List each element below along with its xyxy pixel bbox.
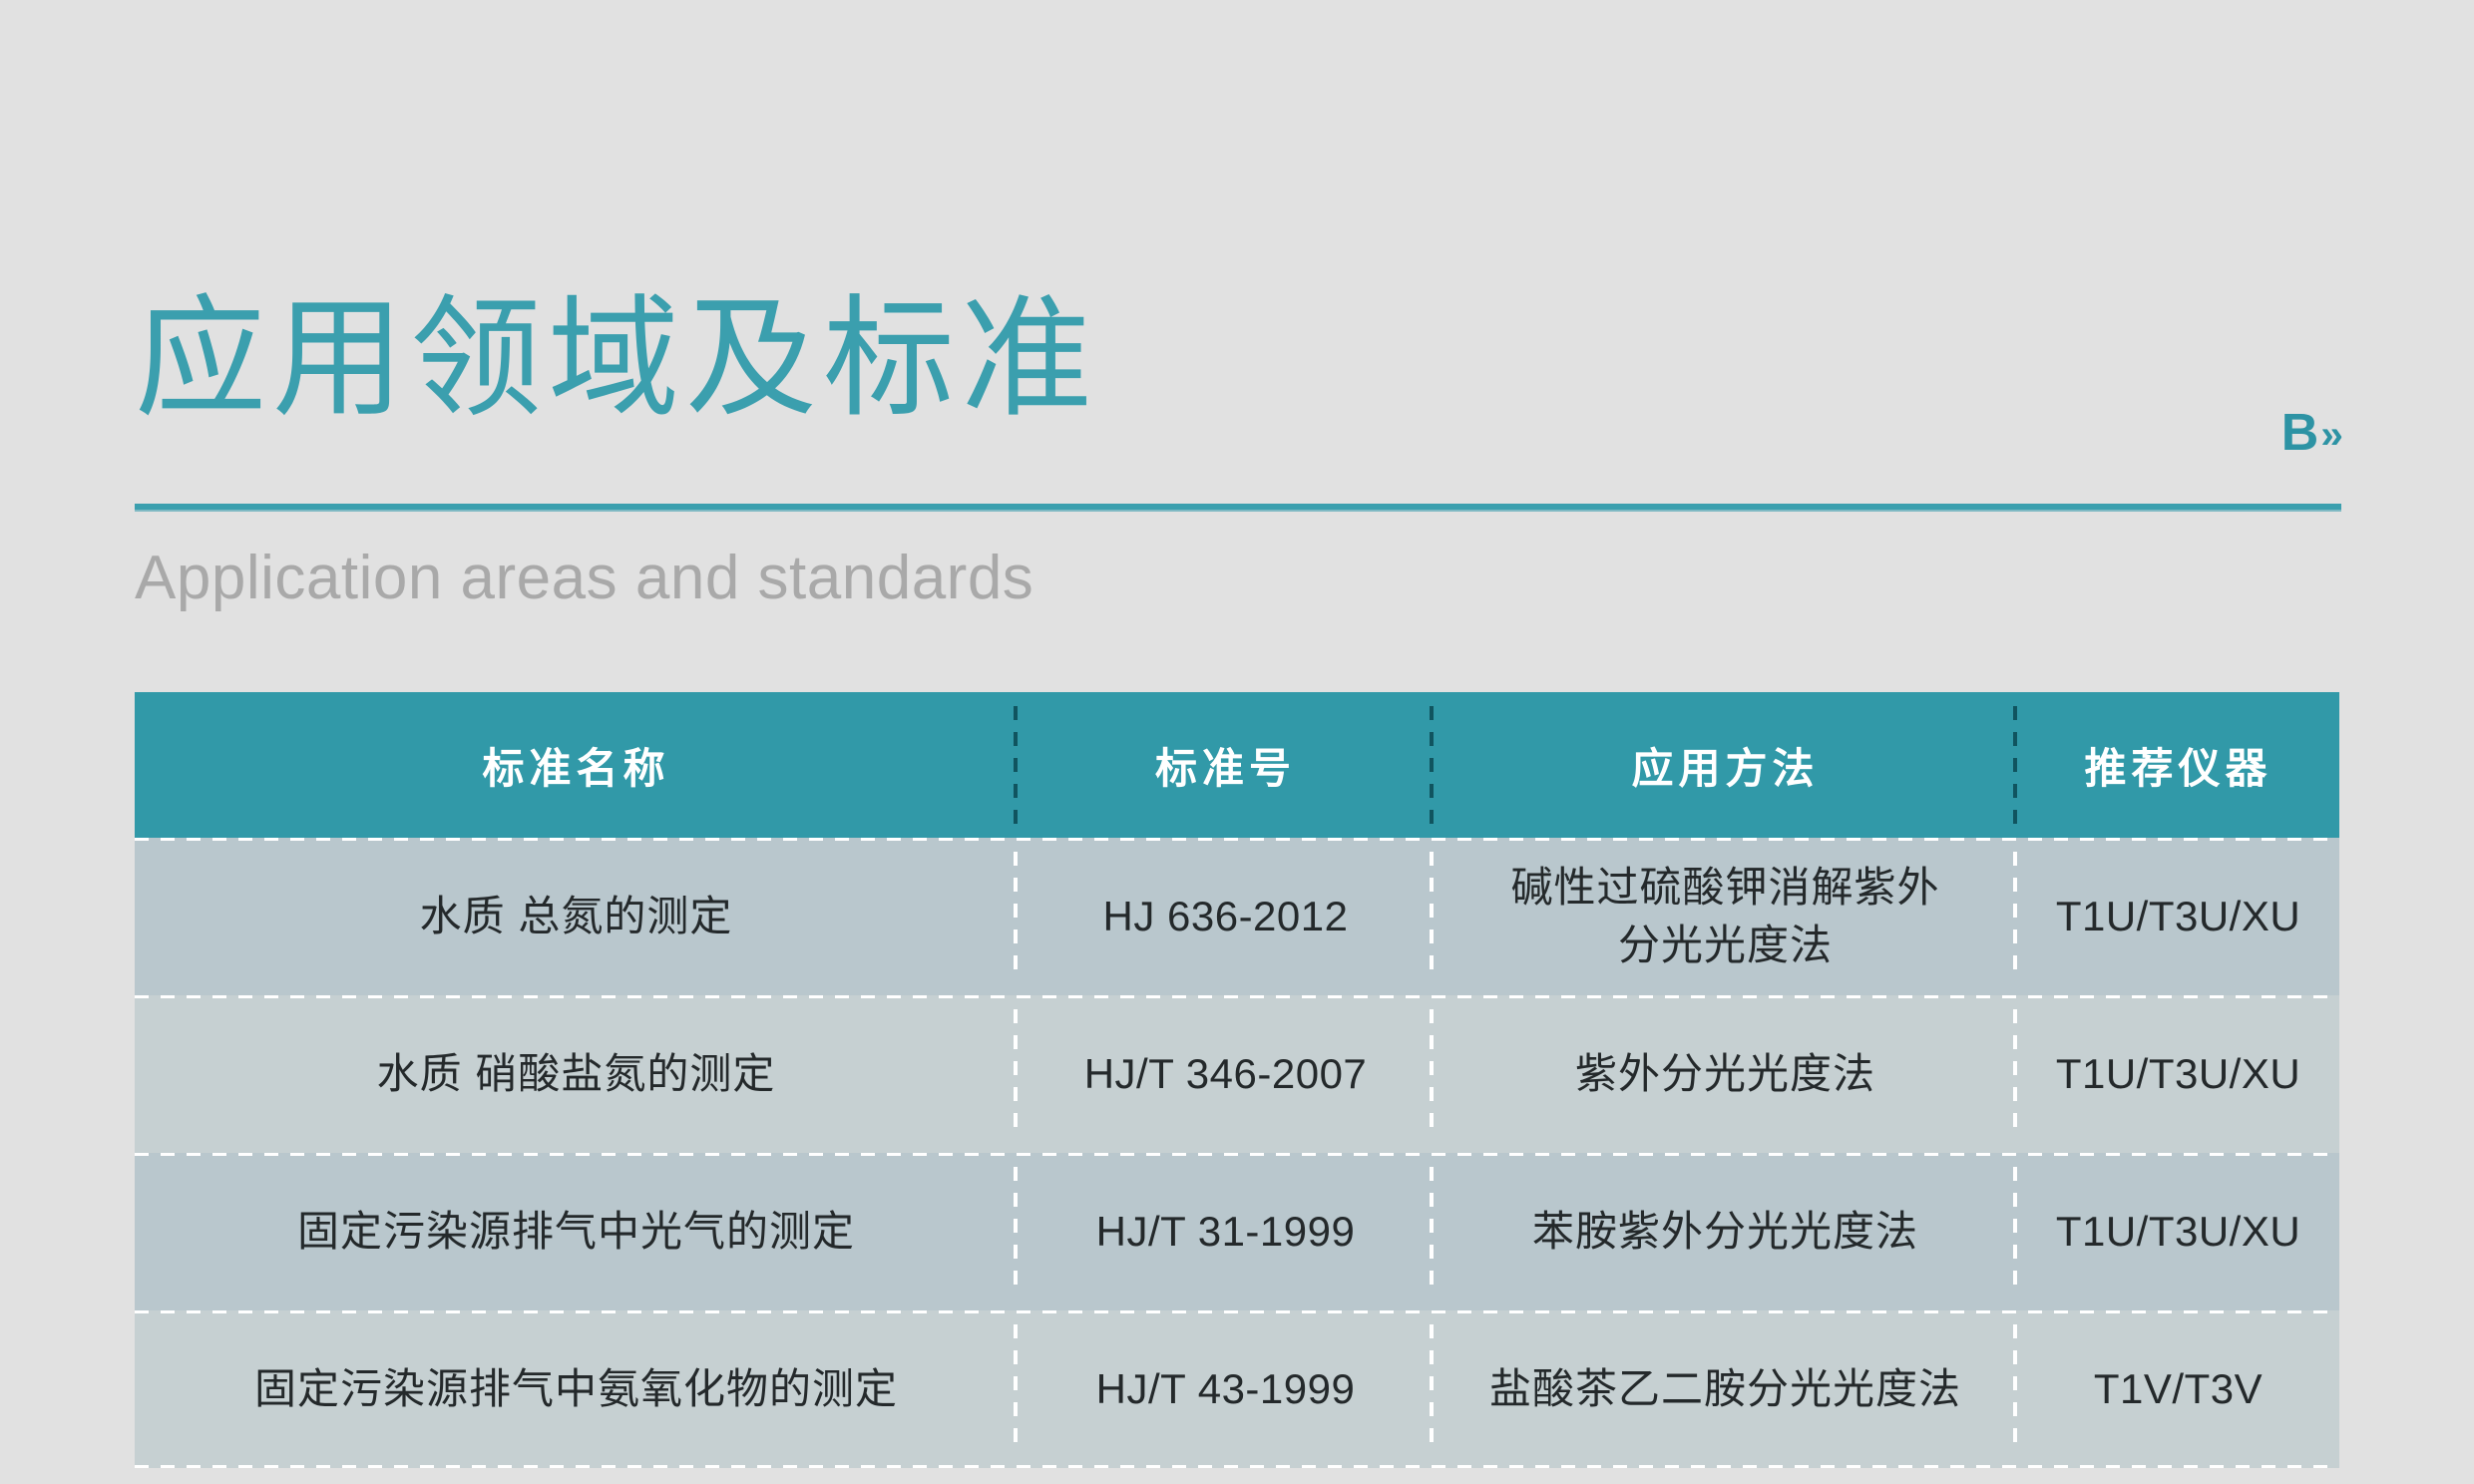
cell-standard-number: HJ/T 346-2007 [1018, 995, 1434, 1153]
table-row: 固定污染源排气中氨氧化物的测定 HJ/T 43-1999 盐酸茶乙二胺分光光度法… [135, 1310, 2339, 1468]
table-row: 水质 总氮的测定 HJ 636-2012 碱性过硫酸钾消解紫外 分光光度法 T1… [135, 838, 2339, 995]
cell-recommended-instrument: T1U/T3U/XU [2017, 838, 2339, 995]
column-header-recommended-instrument: 推荐仪器 [2017, 692, 2339, 838]
double-chevron-icon: ›› [2320, 409, 2339, 461]
brand-mark-icon: B [2281, 407, 2319, 459]
cell-standard-name: 水质 总氮的测定 [135, 838, 1018, 995]
table-row: 水质 硝酸盐氮的测定 HJ/T 346-2007 紫外分光光度法 T1U/T3U… [135, 995, 2339, 1153]
brand-logo: B ›› [2281, 407, 2339, 463]
title-divider-rule-accent [135, 510, 2341, 512]
cell-standard-name: 固定污染源排气中光气的测定 [135, 1153, 1018, 1310]
cell-application-method: 碱性过硫酸钾消解紫外 分光光度法 [1434, 838, 2017, 995]
cell-recommended-instrument: T1U/T3U/XU [2017, 995, 2339, 1153]
page-subtitle: Application areas and standards [135, 539, 1033, 618]
page-title: 应用领域及标准 [135, 279, 1098, 439]
column-header-application-method: 应用方法 [1434, 692, 2017, 838]
cell-recommended-instrument: T1V/T3V [2017, 1310, 2339, 1468]
cell-application-method: 盐酸茶乙二胺分光光度法 [1434, 1310, 2017, 1468]
cell-application-method: 苯胺紫外分光光度法 [1434, 1153, 2017, 1310]
cell-standard-name: 水质 硝酸盐氮的测定 [135, 995, 1018, 1153]
cell-standard-number: HJ 636-2012 [1018, 838, 1434, 995]
cell-application-method: 紫外分光光度法 [1434, 995, 2017, 1153]
column-header-standard-name: 标准名称 [135, 692, 1018, 838]
cell-standard-name: 固定污染源排气中氨氧化物的测定 [135, 1310, 1018, 1468]
cell-standard-number: HJ/T 43-1999 [1018, 1310, 1434, 1468]
slide-header: 应用领域及标准 B ›› [135, 279, 2339, 469]
title-row: 应用领域及标准 B ›› [135, 279, 2339, 469]
slide-canvas: 应用领域及标准 B ›› Application areas and stand… [0, 0, 2474, 1484]
standards-table: 标准名称 标准号 应用方法 推荐仪器 水质 总氮的测定 HJ 636-2012 … [135, 692, 2339, 1468]
table-header-row: 标准名称 标准号 应用方法 推荐仪器 [135, 692, 2339, 838]
cell-standard-number: HJ/T 31-1999 [1018, 1153, 1434, 1310]
cell-recommended-instrument: T1U/T3U/XU [2017, 1153, 2339, 1310]
column-header-standard-number: 标准号 [1018, 692, 1434, 838]
table-row: 固定污染源排气中光气的测定 HJ/T 31-1999 苯胺紫外分光光度法 T1U… [135, 1153, 2339, 1310]
